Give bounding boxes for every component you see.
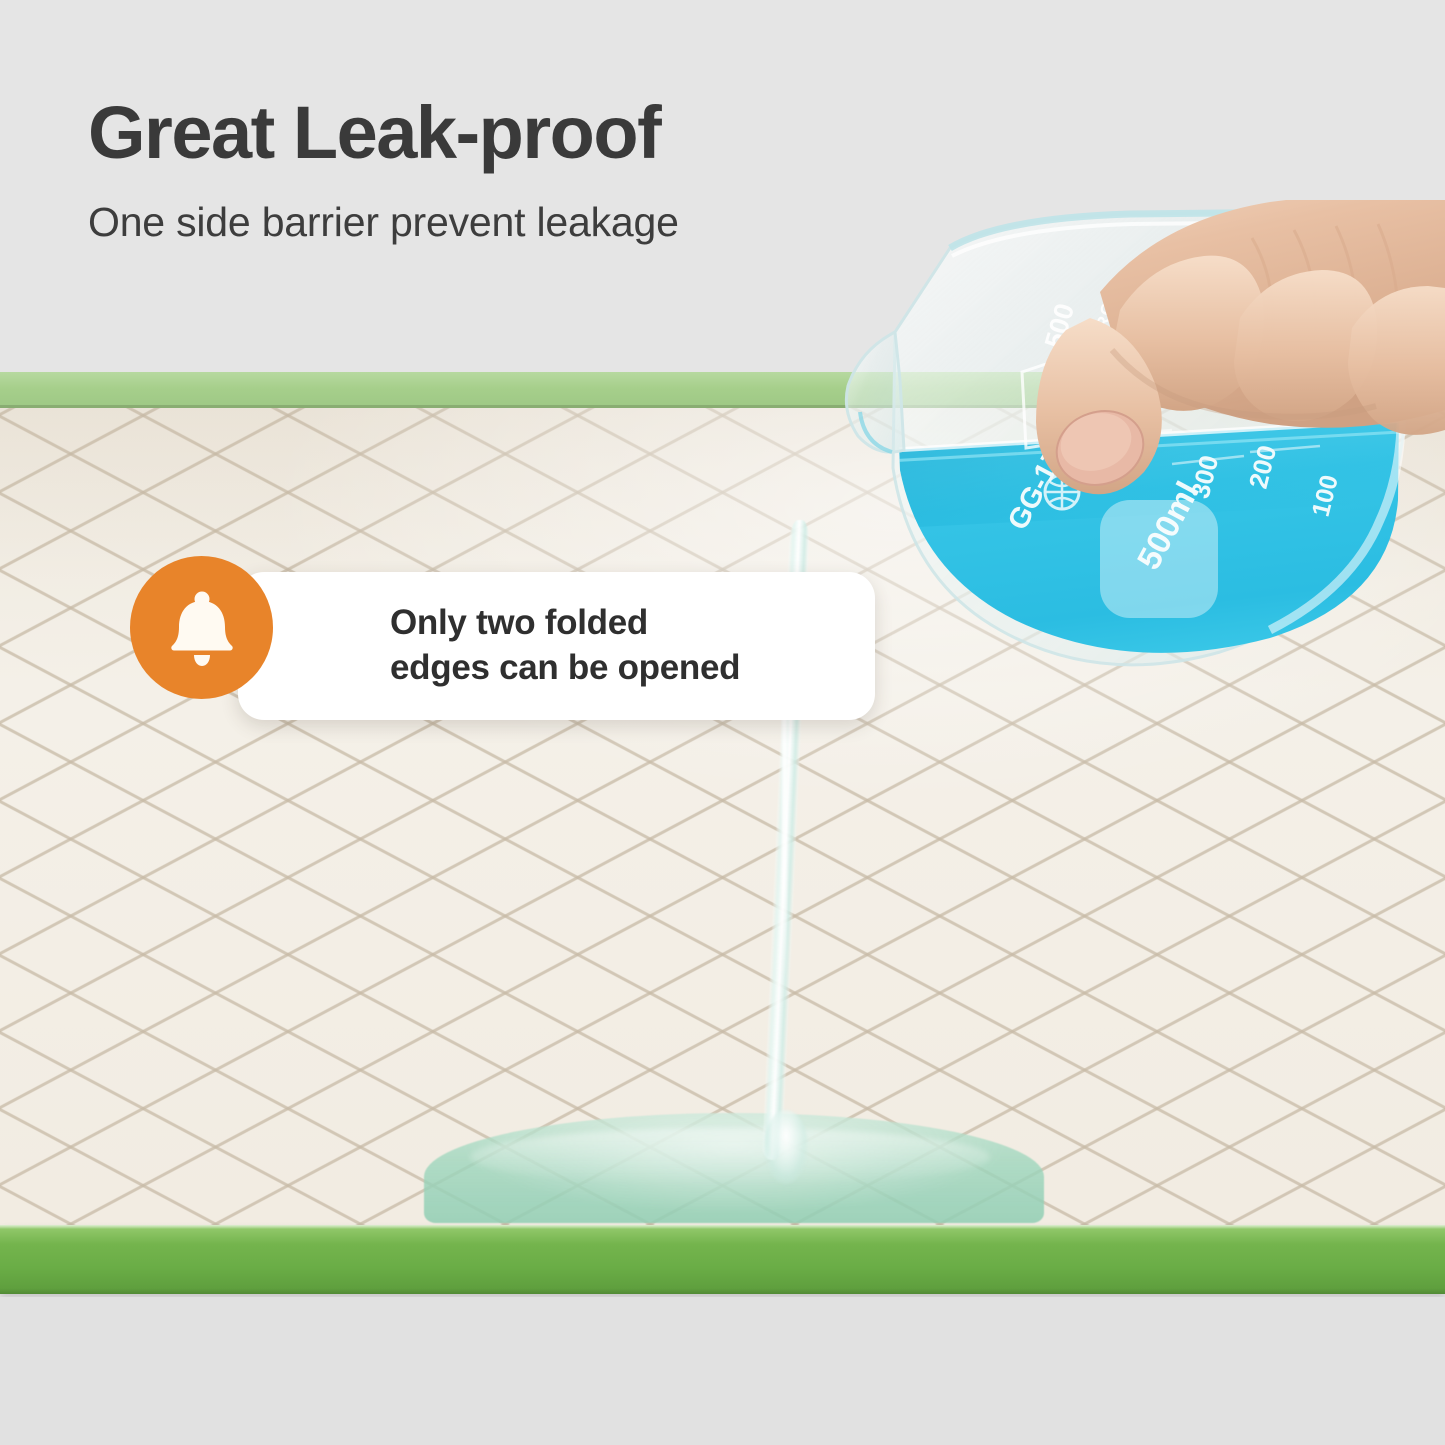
- beaker-spout: [846, 332, 904, 452]
- stream-impact-splash: [764, 1110, 808, 1184]
- callout-text: Only two folded edges can be opened: [238, 601, 760, 691]
- header-block: Great Leak-proof One side barrier preven…: [88, 96, 988, 243]
- page-subtitle: One side barrier prevent leakage: [88, 170, 988, 243]
- bell-badge: [130, 556, 273, 699]
- beaker-and-hand: 500 APPROX 300 200 100 GG-17: [800, 200, 1445, 760]
- puddle-sheen: [470, 1128, 990, 1186]
- callout-card: Only two folded edges can be opened: [238, 572, 875, 720]
- product-feature-image: Great Leak-proof One side barrier preven…: [0, 0, 1445, 1445]
- bell-icon: [165, 589, 239, 667]
- page-title: Great Leak-proof: [88, 96, 988, 170]
- bottom-background: [0, 1297, 1445, 1445]
- mat-front-barrier: [0, 1225, 1445, 1294]
